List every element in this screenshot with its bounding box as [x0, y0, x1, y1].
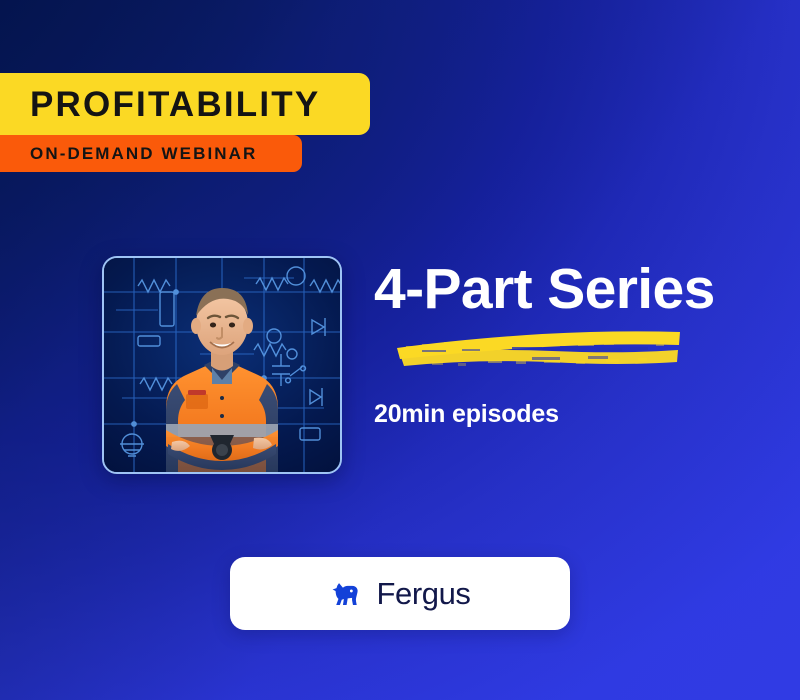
presenter-photo: [102, 256, 342, 474]
brand-logo-button[interactable]: Fergus: [230, 557, 570, 630]
ribbon-secondary-label: ON-DEMAND WEBINAR: [30, 145, 257, 162]
page-subtitle: 20min episodes: [374, 402, 559, 427]
page-title: 4-Part Series: [374, 260, 715, 318]
ribbon-banner: PROFITABILITY ON-DEMAND WEBINAR: [0, 73, 370, 172]
webinar-promo-banner: PROFITABILITY ON-DEMAND WEBINAR: [0, 0, 800, 700]
brand-name-label: Fergus: [376, 578, 470, 609]
ribbon-secondary-bar: ON-DEMAND WEBINAR: [0, 135, 302, 172]
presenter-figure: [104, 258, 340, 472]
dog-logo-icon: [329, 577, 363, 611]
ribbon-primary-bar: PROFITABILITY: [0, 73, 370, 135]
ribbon-primary-label: PROFITABILITY: [30, 87, 320, 122]
brush-underline-icon: [392, 328, 684, 374]
